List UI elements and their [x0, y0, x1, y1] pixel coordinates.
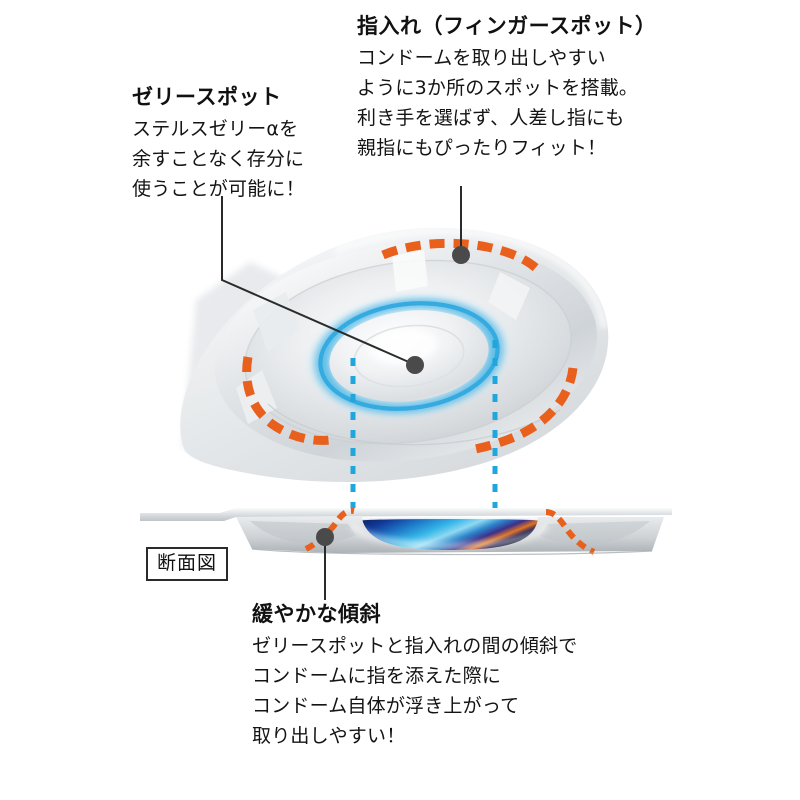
callout-gentle-slope-line-3: コンドーム自体が浮き上がって	[252, 691, 577, 721]
callout-jelly-spot-title: ゼリースポット	[132, 83, 305, 111]
callout-gentle-slope-title: 緩やかな傾斜	[252, 600, 577, 628]
step-facet-top	[392, 250, 428, 292]
marker-dot-jelly-spot	[406, 356, 424, 374]
callout-gentle-slope-body: ゼリースポットと指入れの間の傾斜で コンドームに指を添えた際に コンドーム自体が…	[252, 631, 577, 751]
callout-jelly-spot: ゼリースポット ステルスゼリーαを 余すことなく存分に 使うことが可能に！	[132, 83, 305, 204]
section-well-rim	[362, 518, 538, 520]
marker-dot-finger-spot	[452, 246, 470, 264]
top-view-group	[180, 221, 609, 516]
callout-finger-spot-line-1: コンドームを取り出しやすい	[357, 43, 657, 73]
callout-gentle-slope: 緩やかな傾斜 ゼリースポットと指入れの間の傾斜で コンドームに指を添えた際に コ…	[252, 600, 577, 751]
callout-gentle-slope-line-2: コンドームに指を添えた際に	[252, 661, 577, 691]
callout-jelly-spot-line-3: 使うことが可能に！	[132, 174, 305, 204]
callout-jelly-spot-line-2: 余すことなく存分に	[132, 144, 305, 174]
callout-finger-spot-line-3: 利き手を選ばず、人差し指にも	[357, 103, 657, 133]
callout-finger-spot-line-2: ように3か所のスポットを搭載。	[357, 73, 657, 103]
callout-jelly-spot-body: ステルスゼリーαを 余すことなく存分に 使うことが可能に！	[132, 114, 305, 204]
callout-finger-spot-line-4: 親指にもぴったりフィット！	[357, 133, 657, 163]
callout-gentle-slope-line-4: 取り出しやすい！	[252, 721, 577, 751]
callout-finger-spot-title: 指入れ（フィンガースポット）	[357, 12, 657, 40]
callout-jelly-spot-line-1: ステルスゼリーαを	[132, 114, 305, 144]
callout-finger-spot-body: コンドームを取り出しやすい ように3か所のスポットを搭載。 利き手を選ばず、人差…	[357, 43, 657, 163]
illustration-canvas: ゼリースポット ステルスゼリーαを 余すことなく存分に 使うことが可能に！ 指入…	[0, 0, 800, 800]
cross-section-label: 断面図	[146, 547, 228, 581]
callout-finger-spot: 指入れ（フィンガースポット） コンドームを取り出しやすい ように3か所のスポット…	[357, 12, 657, 163]
callout-gentle-slope-line-1: ゼリースポットと指入れの間の傾斜で	[252, 631, 577, 661]
marker-dot-gentle-slope	[316, 528, 334, 546]
